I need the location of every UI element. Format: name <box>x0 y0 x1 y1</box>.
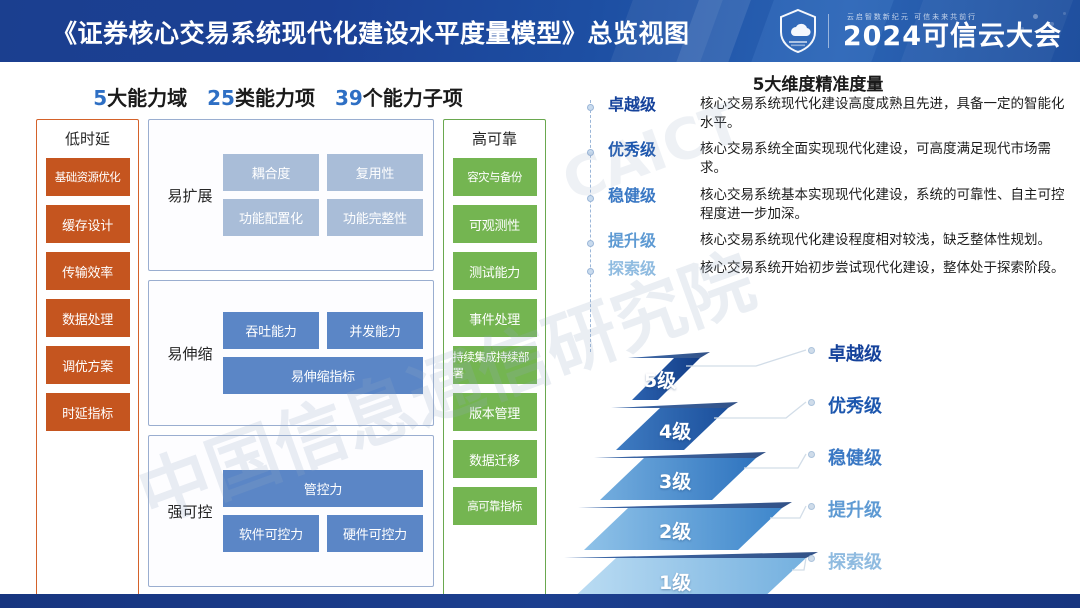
column-title-low-latency: 低时延 <box>65 128 110 149</box>
capability-chip[interactable]: 版本管理 <box>453 393 537 431</box>
capability-chip[interactable]: 易伸缩指标 <box>223 357 423 394</box>
level-bullet-icon <box>587 149 594 156</box>
maturity-levels-panel: 5大维度精准度量 卓越级 核心交易系统现代化建设高度成熟且先进，具备一定的智能化… <box>556 62 1080 608</box>
pyramid-level-name: 探索级 <box>828 548 882 574</box>
capability-chip[interactable]: 时延指标 <box>46 393 130 431</box>
header-bar: 《证券核心交易系统现代化建设水平度量模型》总览视图 云启智数新纪元 可信未来共前… <box>0 0 1080 62</box>
level-timeline-line <box>590 100 591 352</box>
slide-root: 《证券核心交易系统现代化建设水平度量模型》总览视图 云启智数新纪元 可信未来共前… <box>0 0 1080 608</box>
maturity-pyramid: 5级 4级 3级 2级 1级 卓越级 优秀级 稳健级 提升级 探索级 <box>556 330 1080 608</box>
capability-chip[interactable]: 缓存设计 <box>46 205 130 243</box>
level-bullet-icon <box>587 268 594 275</box>
level-description: 核心交易系统全面实现现代化建设，可高度满足现代市场需求。 <box>700 139 1070 178</box>
list-item[interactable]: 卓越级 核心交易系统现代化建设高度成熟且先进，具备一定的智能化水平。 <box>570 94 1070 133</box>
maturity-level-list: 卓越级 核心交易系统现代化建设高度成熟且先进，具备一定的智能化水平。 优秀级 核… <box>570 94 1070 285</box>
capability-chip[interactable]: 事件处理 <box>453 299 537 337</box>
pyramid-level-name: 稳健级 <box>828 444 882 470</box>
capability-group-scalability[interactable]: 易伸缩 吞吐能力 并发能力 易伸缩指标 <box>148 280 434 426</box>
pyramid-bullet-icon <box>808 451 815 458</box>
list-item[interactable]: 提升级 核心交易系统现代化建设程度相对较浅，缺乏整体性规划。 <box>570 230 1070 252</box>
pyramid-bullet-icon <box>808 555 815 562</box>
capability-chip[interactable]: 功能完整性 <box>327 199 423 236</box>
level-bullet-icon <box>587 195 594 202</box>
level-bullet-icon <box>587 240 594 247</box>
capability-chip[interactable]: 并发能力 <box>327 312 423 349</box>
capability-chip[interactable]: 软件可控力 <box>223 515 319 552</box>
capability-chip[interactable]: 传输效率 <box>46 252 130 290</box>
list-item[interactable]: 优秀级 核心交易系统全面实现现代化建设，可高度满足现代市场需求。 <box>570 139 1070 178</box>
pyramid-tier-label: 5级 <box>644 366 676 393</box>
capability-chip[interactable]: 持续集成持续部署 <box>453 346 537 384</box>
capability-chip[interactable]: 功能配置化 <box>223 199 319 236</box>
capability-chip[interactable]: 复用性 <box>327 154 423 191</box>
capability-columns: 低时延 基础资源优化 缓存设计 传输效率 数据处理 调优方案 时延指标 易扩展 … <box>36 119 548 597</box>
level-name: 探索级 <box>608 258 700 280</box>
maturity-heading: 5大维度精准度量 <box>556 70 1080 95</box>
capability-chip[interactable]: 测试能力 <box>453 252 537 290</box>
list-item[interactable]: 稳健级 核心交易系统基本实现现代化建设，系统的可靠性、自主可控程度进一步加深。 <box>570 185 1070 224</box>
capability-column-high-reliability[interactable]: 高可靠 容灾与备份 可观测性 测试能力 事件处理 持续集成持续部署 版本管理 数… <box>443 119 546 597</box>
list-item[interactable]: 探索级 核心交易系统开始初步尝试现代化建设，整体处于探索阶段。 <box>570 258 1070 280</box>
footer-bar <box>0 594 1080 608</box>
brand-name: 2024可信云大会 <box>843 23 1062 50</box>
level-description: 核心交易系统现代化建设高度成熟且先进，具备一定的智能化水平。 <box>700 94 1070 133</box>
pyramid-tier-label: 2级 <box>659 517 691 544</box>
capability-subitem-count: 39 <box>335 86 363 110</box>
capability-group-controllability[interactable]: 强可控 管控力 软件可控力 硬件可控力 <box>148 435 434 587</box>
capability-item-count: 25 <box>207 86 235 110</box>
capability-model-panel: 5大能力域 25类能力项 39个能力子项 低时延 基础资源优化 缓存设计 传输效… <box>0 62 556 608</box>
group-label-scalability: 易伸缩 <box>157 343 223 364</box>
capability-chip[interactable]: 数据迁移 <box>453 440 537 478</box>
column-title-high-reliability: 高可靠 <box>472 128 517 149</box>
pyramid-level-name: 卓越级 <box>828 340 882 366</box>
capability-heading: 5大能力域 25类能力项 39个能力子项 <box>0 82 556 111</box>
pyramid-level-name: 提升级 <box>828 496 882 522</box>
capability-group-extensibility[interactable]: 易扩展 耦合度 复用性 功能配置化 功能完整性 <box>148 119 434 271</box>
group-label-extensibility: 易扩展 <box>157 185 223 206</box>
shield-cloud-logo-icon <box>778 8 818 54</box>
level-description: 核心交易系统现代化建设程度相对较浅，缺乏整体性规划。 <box>700 230 1070 250</box>
brand-divider <box>828 14 829 48</box>
capability-column-low-latency[interactable]: 低时延 基础资源优化 缓存设计 传输效率 数据处理 调优方案 时延指标 <box>36 119 139 597</box>
level-name: 提升级 <box>608 230 700 252</box>
pyramid-bullet-icon <box>808 347 815 354</box>
capability-column-blue: 易扩展 耦合度 复用性 功能配置化 功能完整性 易伸缩 吞吐能力 并发能力 易伸… <box>148 119 434 597</box>
level-description: 核心交易系统基本实现现代化建设，系统的可靠性、自主可控程度进一步加深。 <box>700 185 1070 224</box>
capability-chip[interactable]: 硬件可控力 <box>327 515 423 552</box>
level-name: 卓越级 <box>608 94 700 116</box>
level-name: 优秀级 <box>608 139 700 161</box>
capability-chip[interactable]: 耦合度 <box>223 154 319 191</box>
capability-chip[interactable]: 容灾与备份 <box>453 158 537 196</box>
capability-chip[interactable]: 管控力 <box>223 470 423 507</box>
pyramid-tier-label: 3级 <box>659 467 691 494</box>
capability-chip[interactable]: 数据处理 <box>46 299 130 337</box>
brand-lockup: 云启智数新纪元 可信未来共前行 2024可信云大会 <box>778 5 1062 57</box>
capability-item-label: 类能力项 <box>235 86 335 110</box>
capability-subitem-label: 个能力子项 <box>363 86 463 110</box>
capability-chip[interactable]: 可观测性 <box>453 205 537 243</box>
level-name: 稳健级 <box>608 185 700 207</box>
pyramid-bullet-icon <box>808 503 815 510</box>
pyramid-level-name: 优秀级 <box>828 392 882 418</box>
capability-chip[interactable]: 调优方案 <box>46 346 130 384</box>
page-title: 《证券核心交易系统现代化建设水平度量模型》总览视图 <box>52 14 690 50</box>
capability-domain-label: 大能力域 <box>107 86 207 110</box>
level-bullet-icon <box>587 104 594 111</box>
capability-chip[interactable]: 高可靠指标 <box>453 487 537 525</box>
capability-chip[interactable]: 吞吐能力 <box>223 312 319 349</box>
pyramid-tier-label: 1级 <box>659 568 691 595</box>
pyramid-tier-label: 4级 <box>659 417 691 444</box>
capability-chip[interactable]: 基础资源优化 <box>46 158 130 196</box>
pyramid-bullet-icon <box>808 399 815 406</box>
capability-domain-count: 5 <box>93 86 107 110</box>
group-label-controllability: 强可控 <box>157 501 223 522</box>
level-description: 核心交易系统开始初步尝试现代化建设，整体处于探索阶段。 <box>700 258 1070 278</box>
